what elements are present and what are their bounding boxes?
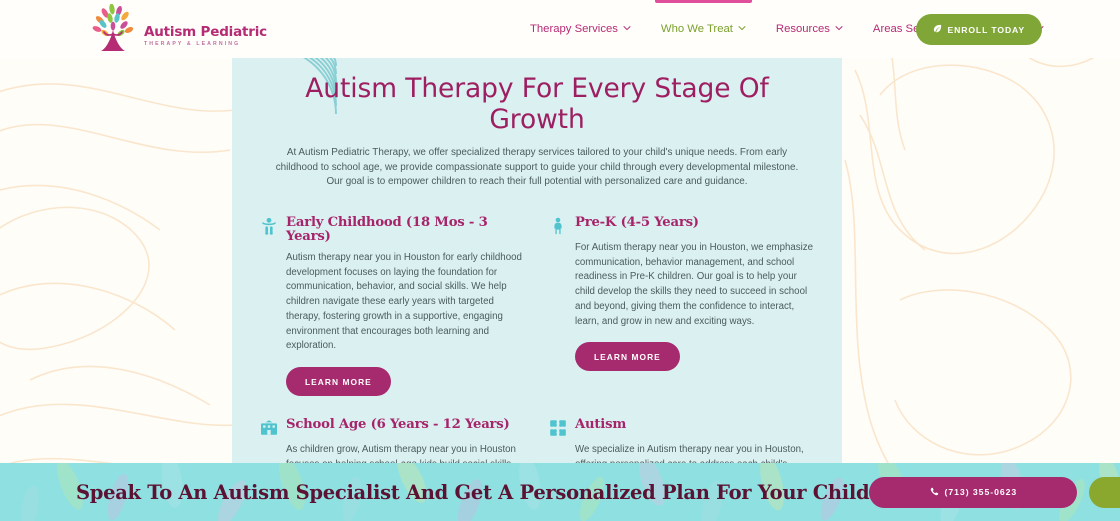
bottom-cta-bar: Speak To An Autism Specialist And Get A … bbox=[0, 463, 1120, 521]
service-card-early-childhood: Early Childhood (18 Mos - 3 Years) Autis… bbox=[260, 216, 525, 396]
card-body: We specialize in Autism therapy near you… bbox=[575, 443, 814, 463]
nav-item-who-we-treat[interactable]: Who We Treat bbox=[659, 0, 748, 58]
chevron-down-icon bbox=[623, 24, 631, 32]
panel-inner: Autism Therapy For Every Stage Of Growth… bbox=[232, 73, 842, 463]
nav-item-resources[interactable]: Resources bbox=[774, 0, 845, 58]
cta-headline: Speak To An Autism Specialist And Get A … bbox=[76, 481, 869, 504]
service-card-school-age: School Age (6 Years - 12 Years) As child… bbox=[260, 418, 525, 463]
cta-phone-button[interactable]: (713) 355-0623 bbox=[869, 477, 1077, 508]
nav-label: Who We Treat bbox=[661, 23, 733, 35]
site-logo[interactable]: Autism Pediatric THERAPY & LEARNING bbox=[88, 4, 267, 54]
card-body: For Autism therapy near you in Houston, … bbox=[575, 241, 814, 329]
card-header: School Age (6 Years - 12 Years) bbox=[260, 418, 525, 437]
site-header: Autism Pediatric THERAPY & LEARNING Ther… bbox=[0, 0, 1120, 58]
card-header: Autism bbox=[549, 418, 814, 437]
card-title: School Age (6 Years - 12 Years) bbox=[286, 418, 510, 433]
main-content-panel: Autism Therapy For Every Stage Of Growth… bbox=[232, 58, 842, 463]
card-title: Autism bbox=[575, 418, 626, 433]
card-body: Autism therapy near you in Houston for e… bbox=[286, 251, 525, 354]
logo-title: Autism Pediatric bbox=[144, 26, 267, 40]
header-enroll-label: ENROLL TODAY bbox=[948, 25, 1026, 35]
cta-phone-label: (713) 355-0623 bbox=[945, 487, 1018, 497]
phone-icon bbox=[930, 487, 939, 498]
school-building-icon bbox=[260, 419, 278, 437]
baby-icon bbox=[260, 217, 278, 235]
leaf-icon bbox=[933, 24, 942, 35]
chevron-down-icon bbox=[738, 24, 746, 32]
cta-enroll-today-button[interactable]: ENROLL TODAY bbox=[1089, 477, 1120, 508]
intro-paragraph: At Autism Pediatric Therapy, we offer sp… bbox=[273, 146, 801, 190]
child-standing-icon bbox=[549, 217, 567, 235]
logo-tagline: THERAPY & LEARNING bbox=[144, 42, 267, 47]
logo-text-block: Autism Pediatric THERAPY & LEARNING bbox=[144, 26, 267, 54]
nav-label: Therapy Services bbox=[530, 23, 618, 35]
nav-item-therapy-services[interactable]: Therapy Services bbox=[528, 0, 633, 58]
chevron-down-icon bbox=[835, 24, 843, 32]
cta-button-group: (713) 355-0623 ENROLL TODAY bbox=[869, 477, 1120, 508]
header-enroll-today-button[interactable]: ENROLL TODAY bbox=[916, 14, 1043, 45]
card-title: Early Childhood (18 Mos - 3 Years) bbox=[286, 216, 525, 245]
service-card-autism: Autism We specialize in Autism therapy n… bbox=[549, 418, 814, 463]
tree-logo-icon bbox=[88, 4, 140, 54]
nav-label: Resources bbox=[776, 23, 830, 35]
puzzle-piece-icon bbox=[549, 419, 567, 437]
service-card-pre-k: Pre-K (4-5 Years) For Autism therapy nea… bbox=[549, 216, 814, 396]
service-cards-grid: Early Childhood (18 Mos - 3 Years) Autis… bbox=[260, 216, 814, 463]
learn-more-button-early-childhood[interactable]: LEARN MORE bbox=[286, 367, 391, 396]
learn-more-button-pre-k[interactable]: LEARN MORE bbox=[575, 342, 680, 371]
card-title: Pre-K (4-5 Years) bbox=[575, 216, 699, 231]
card-body: As children grow, Autism therapy near yo… bbox=[286, 443, 525, 463]
card-header: Early Childhood (18 Mos - 3 Years) bbox=[260, 216, 525, 245]
page-title: Autism Therapy For Every Stage Of Growth bbox=[260, 73, 814, 135]
card-header: Pre-K (4-5 Years) bbox=[549, 216, 814, 235]
